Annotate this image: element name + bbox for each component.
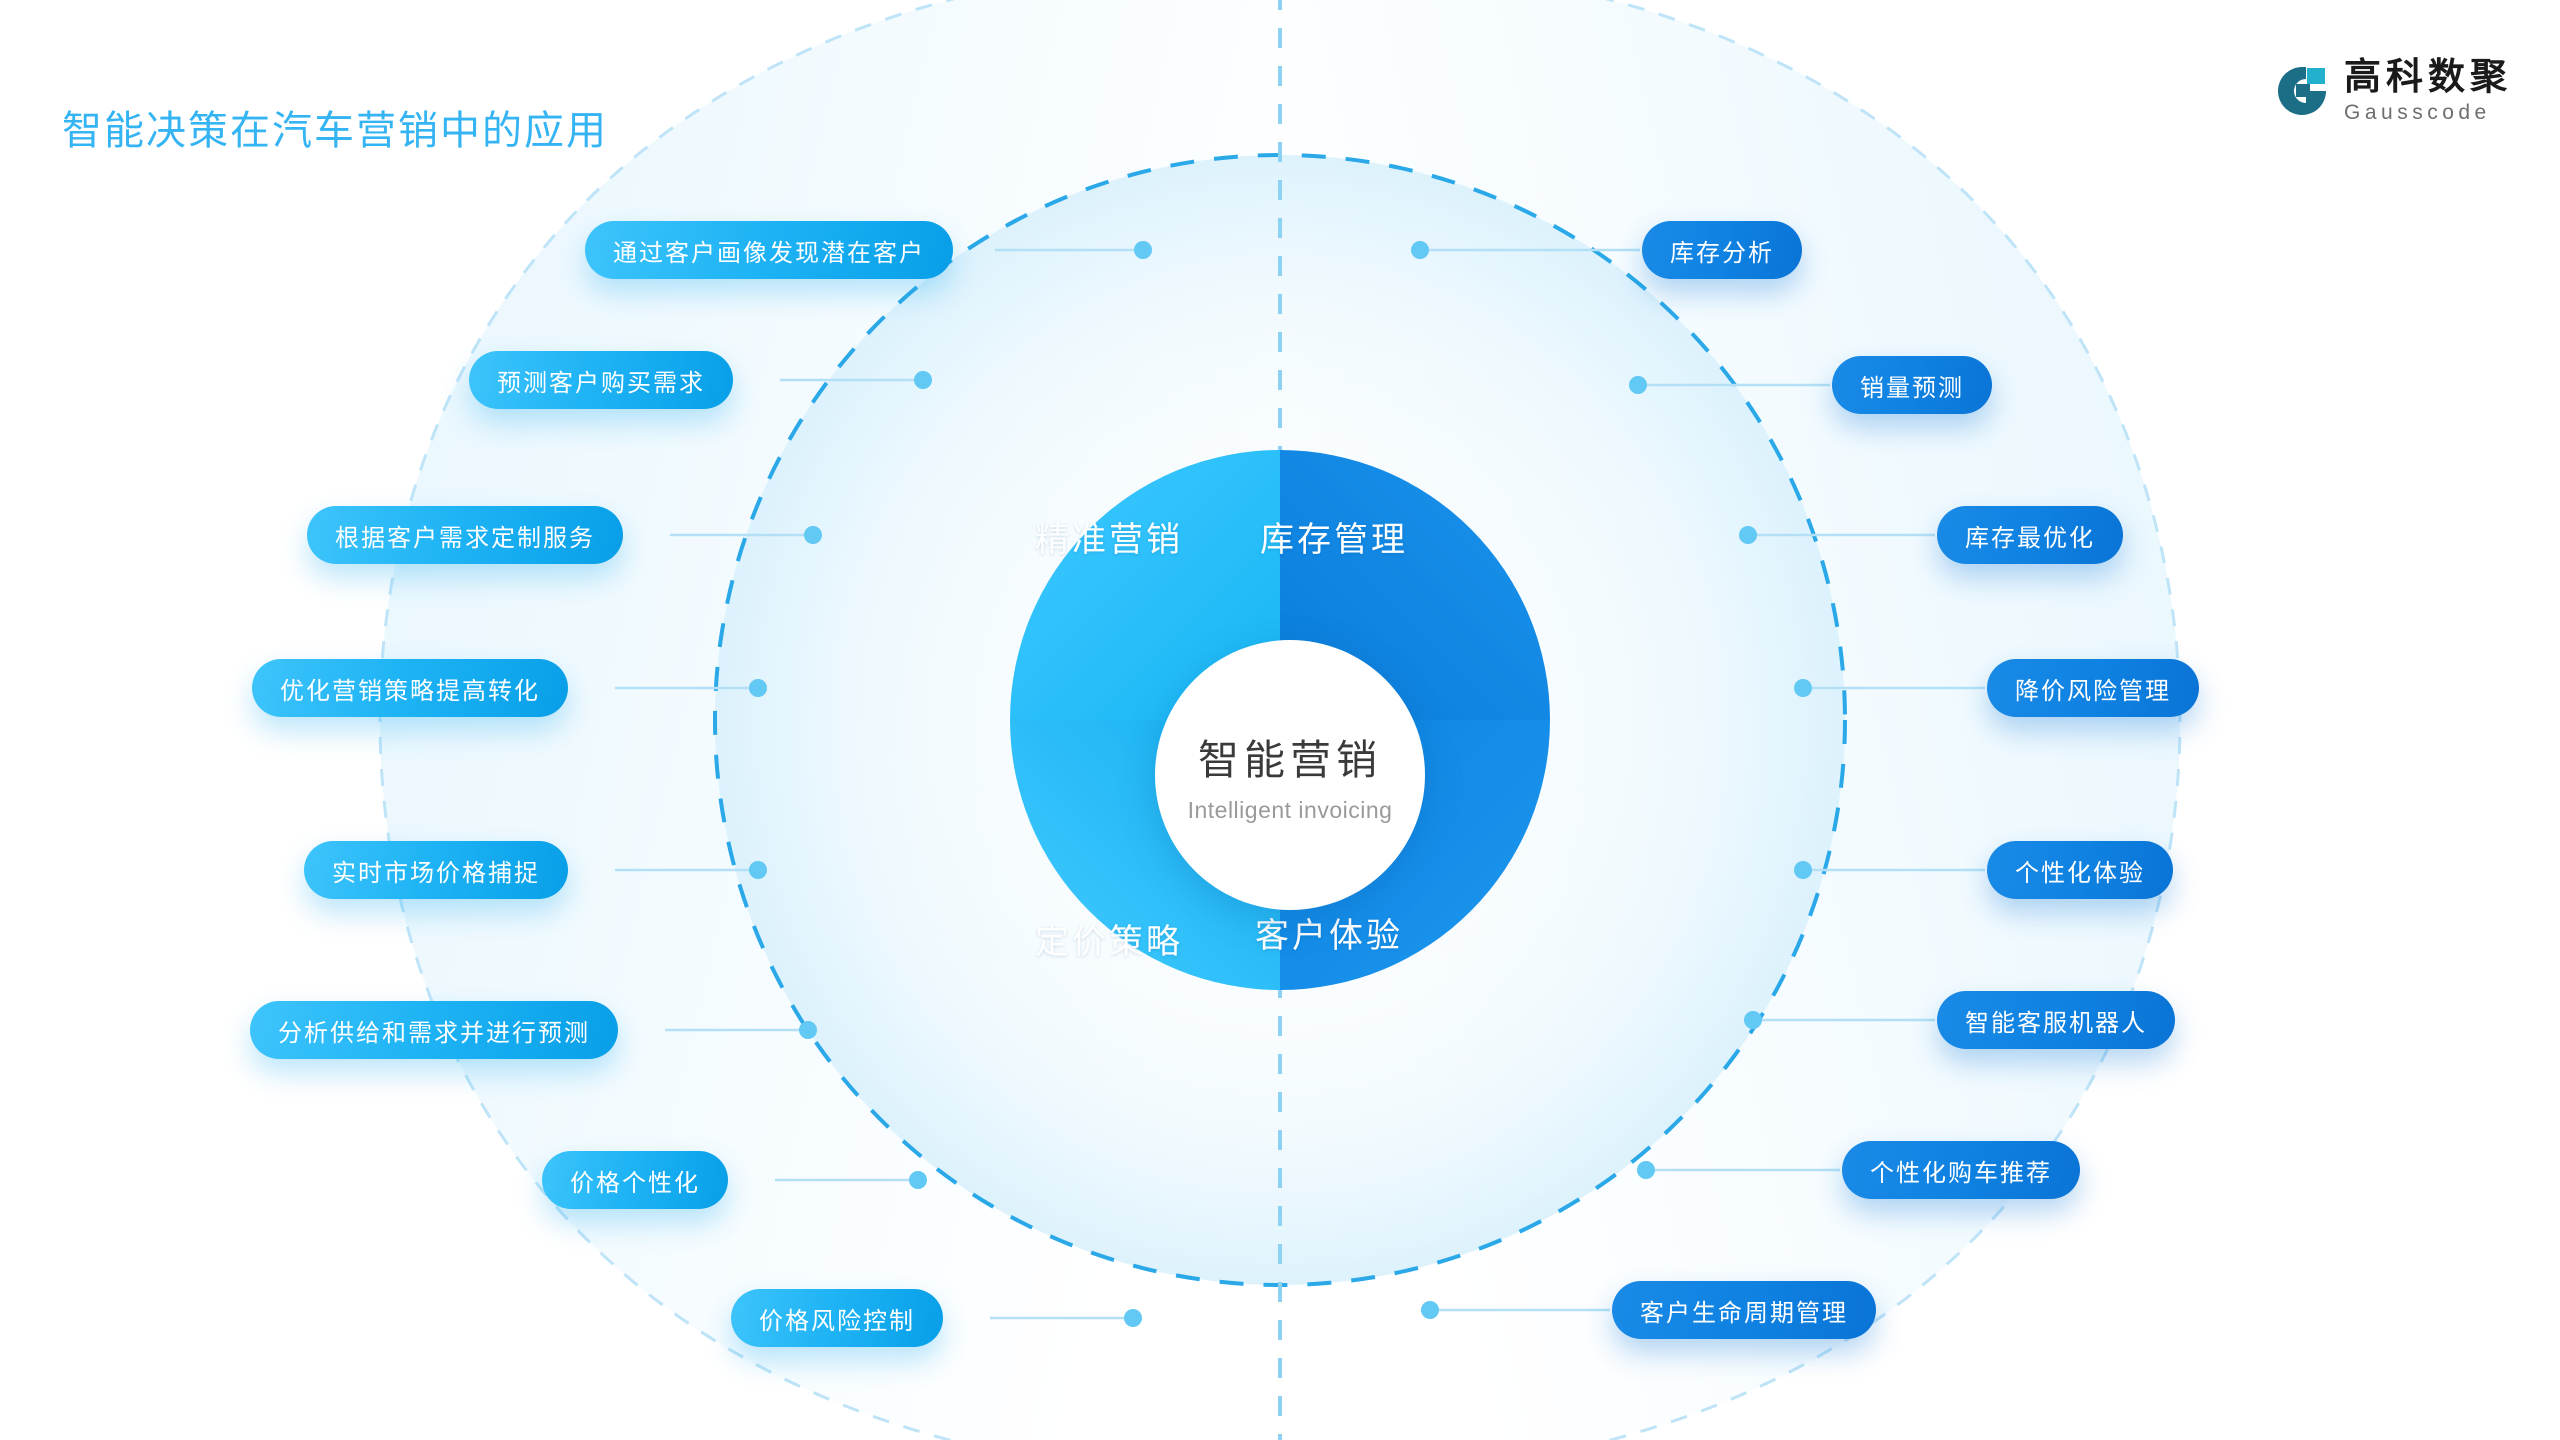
quadrant-label-bottom-left: 定价策略 — [1035, 914, 1183, 963]
logo-text-en: Gausscode — [2344, 102, 2512, 123]
right-pill-6[interactable]: 智能客服机器人 — [1937, 991, 2175, 1049]
right-pill-8[interactable]: 客户生命周期管理 — [1612, 1281, 1876, 1339]
logo-text-cn: 高科数聚 — [2344, 58, 2512, 95]
left-pill-6[interactable]: 分析供给和需求并进行预测 — [250, 1001, 618, 1059]
quadrant-label-top-left: 精准营销 — [1035, 512, 1183, 561]
page-title: 智能决策在汽车营销中的应用 — [62, 98, 608, 156]
right-pill-5[interactable]: 个性化体验 — [1987, 841, 2173, 899]
center-hub-title: 智能营销 — [1198, 726, 1382, 786]
right-pill-1[interactable]: 库存分析 — [1642, 221, 1802, 279]
left-pill-7[interactable]: 价格个性化 — [542, 1151, 728, 1209]
left-pill-4[interactable]: 优化营销策略提高转化 — [252, 659, 568, 717]
right-pill-7[interactable]: 个性化购车推荐 — [1842, 1141, 2080, 1199]
right-pill-2[interactable]: 销量预测 — [1832, 356, 1992, 414]
center-hub: 智能营销 Intelligent invoicing — [1155, 640, 1425, 910]
infographic-canvas: 智能决策在汽车营销中的应用 高科数聚 Gausscode 精准营销 库存管理 定… — [0, 0, 2560, 1440]
right-pill-3[interactable]: 库存最优化 — [1937, 506, 2123, 564]
left-pill-8[interactable]: 价格风险控制 — [731, 1289, 943, 1347]
quadrant-label-top-right: 库存管理 — [1260, 512, 1408, 561]
brand-logo: 高科数聚 Gausscode — [2274, 58, 2512, 123]
left-pill-3[interactable]: 根据客户需求定制服务 — [307, 506, 623, 564]
center-hub-subtitle: Intelligent invoicing — [1188, 797, 1393, 824]
gausscode-g-logo-icon — [2274, 63, 2330, 119]
left-pill-1[interactable]: 通过客户画像发现潜在客户 — [585, 221, 953, 279]
left-pill-2[interactable]: 预测客户购买需求 — [469, 351, 733, 409]
quadrant-label-bottom-right: 客户体验 — [1255, 908, 1403, 957]
right-pill-4[interactable]: 降价风险管理 — [1987, 659, 2199, 717]
left-pill-5[interactable]: 实时市场价格捕捉 — [304, 841, 568, 899]
